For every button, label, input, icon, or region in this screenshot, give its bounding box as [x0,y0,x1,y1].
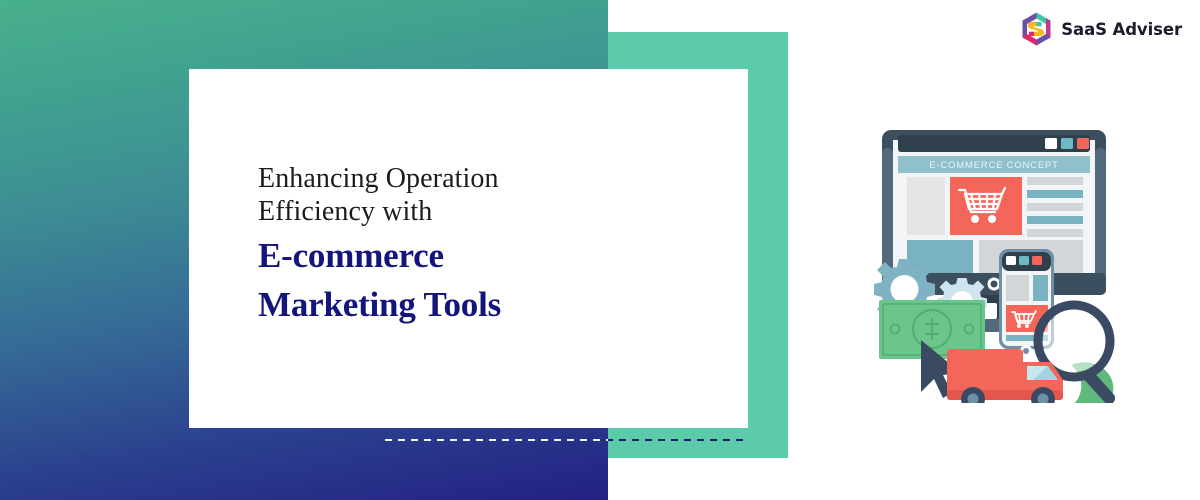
headline-line-1: Enhancing Operation [258,162,658,195]
ecommerce-concept-illustration: E-COMMERCE CONCEPT [855,118,1145,403]
headline-line-4: Marketing Tools [258,284,658,326]
screen-header-text: E-COMMERCE CONCEPT [929,160,1058,171]
brand-name: SaaS Adviser [1061,20,1182,39]
headline-line-2: Efficiency with [258,195,658,228]
brand-logo[interactable]: SaaS Adviser [1021,12,1182,46]
dashed-divider-light-segment [385,439,608,441]
page-title: Enhancing Operation Efficiency with E-co… [258,162,658,326]
headline-line-3: E-commerce [258,235,658,277]
hexagon-s-logo-icon [1021,12,1052,46]
banner-root: Enhancing Operation Efficiency with E-co… [0,0,1200,500]
